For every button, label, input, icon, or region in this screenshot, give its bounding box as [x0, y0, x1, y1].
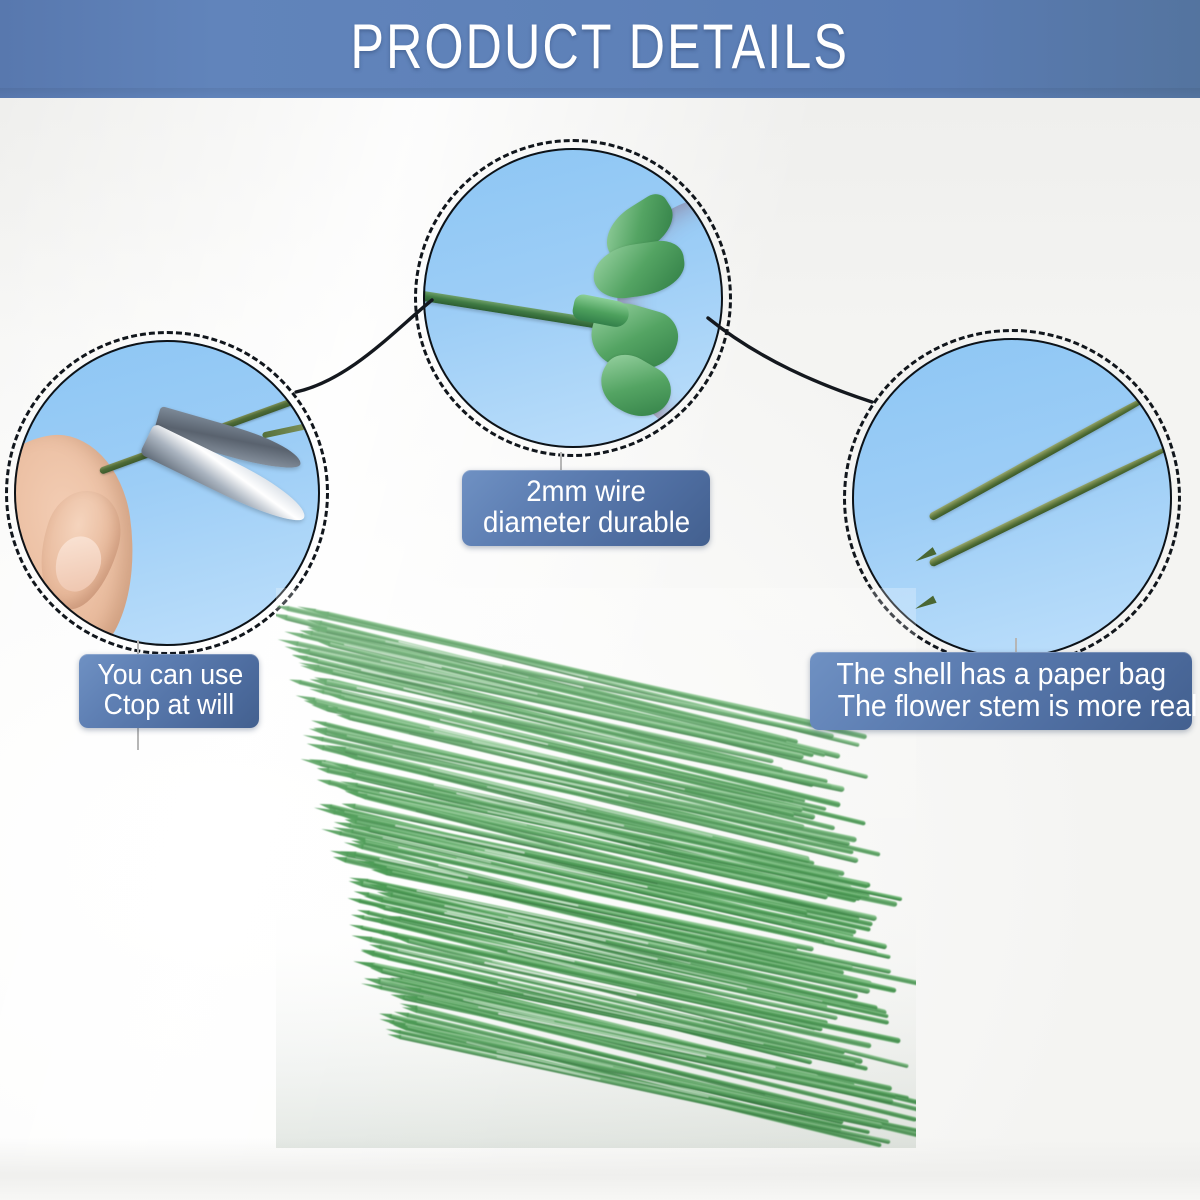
feature-label-line-1: The shell has a paper bag: [822, 658, 1180, 690]
feature-label-wire-diameter: 2mm wire diameter durable: [462, 470, 710, 546]
leader-line-center: [560, 452, 562, 472]
product-details-infographic: PRODUCT DETAILS: [0, 0, 1200, 1200]
feature-label-paper-wrapped-stem: The shell has a paper bag The flower ste…: [810, 652, 1192, 730]
wire-tip-2: [913, 596, 936, 613]
feature-label-line-2: Ctop at will: [91, 690, 247, 720]
header-banner: PRODUCT DETAILS: [0, 0, 1200, 98]
feature-label-line-1: You can use: [91, 660, 247, 690]
green-wire-tip: [262, 423, 306, 438]
feature-label-line-2: The flower stem is more real: [822, 690, 1180, 722]
photo-hand-holding-wire-with-scissors: [14, 340, 320, 646]
photo-stem-attached-to-red-rose: [423, 148, 723, 448]
page-title: PRODUCT DETAILS: [0, 16, 1200, 79]
page-title-text: PRODUCT DETAILS: [351, 16, 850, 79]
feature-label-line-2: diameter durable: [474, 507, 698, 538]
feature-label-cut-to-length: You can use Ctop at will: [79, 654, 259, 728]
feature-circle-cut-to-length: [14, 340, 320, 646]
feature-label-line-1: 2mm wire: [474, 476, 698, 507]
feature-circle-wire-diameter: [423, 148, 723, 448]
